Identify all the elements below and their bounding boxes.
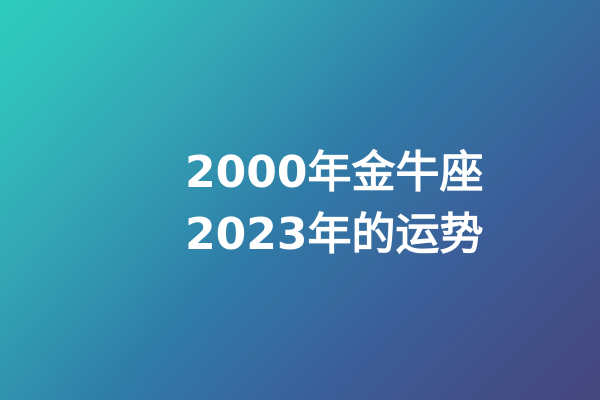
headline-line-1: 2000年金牛座: [185, 142, 483, 204]
banner-image: 2000年金牛座 2023年的运势: [0, 0, 600, 400]
headline-text-block: 2000年金牛座 2023年的运势: [185, 142, 483, 266]
headline-line-2: 2023年的运势: [185, 204, 483, 266]
